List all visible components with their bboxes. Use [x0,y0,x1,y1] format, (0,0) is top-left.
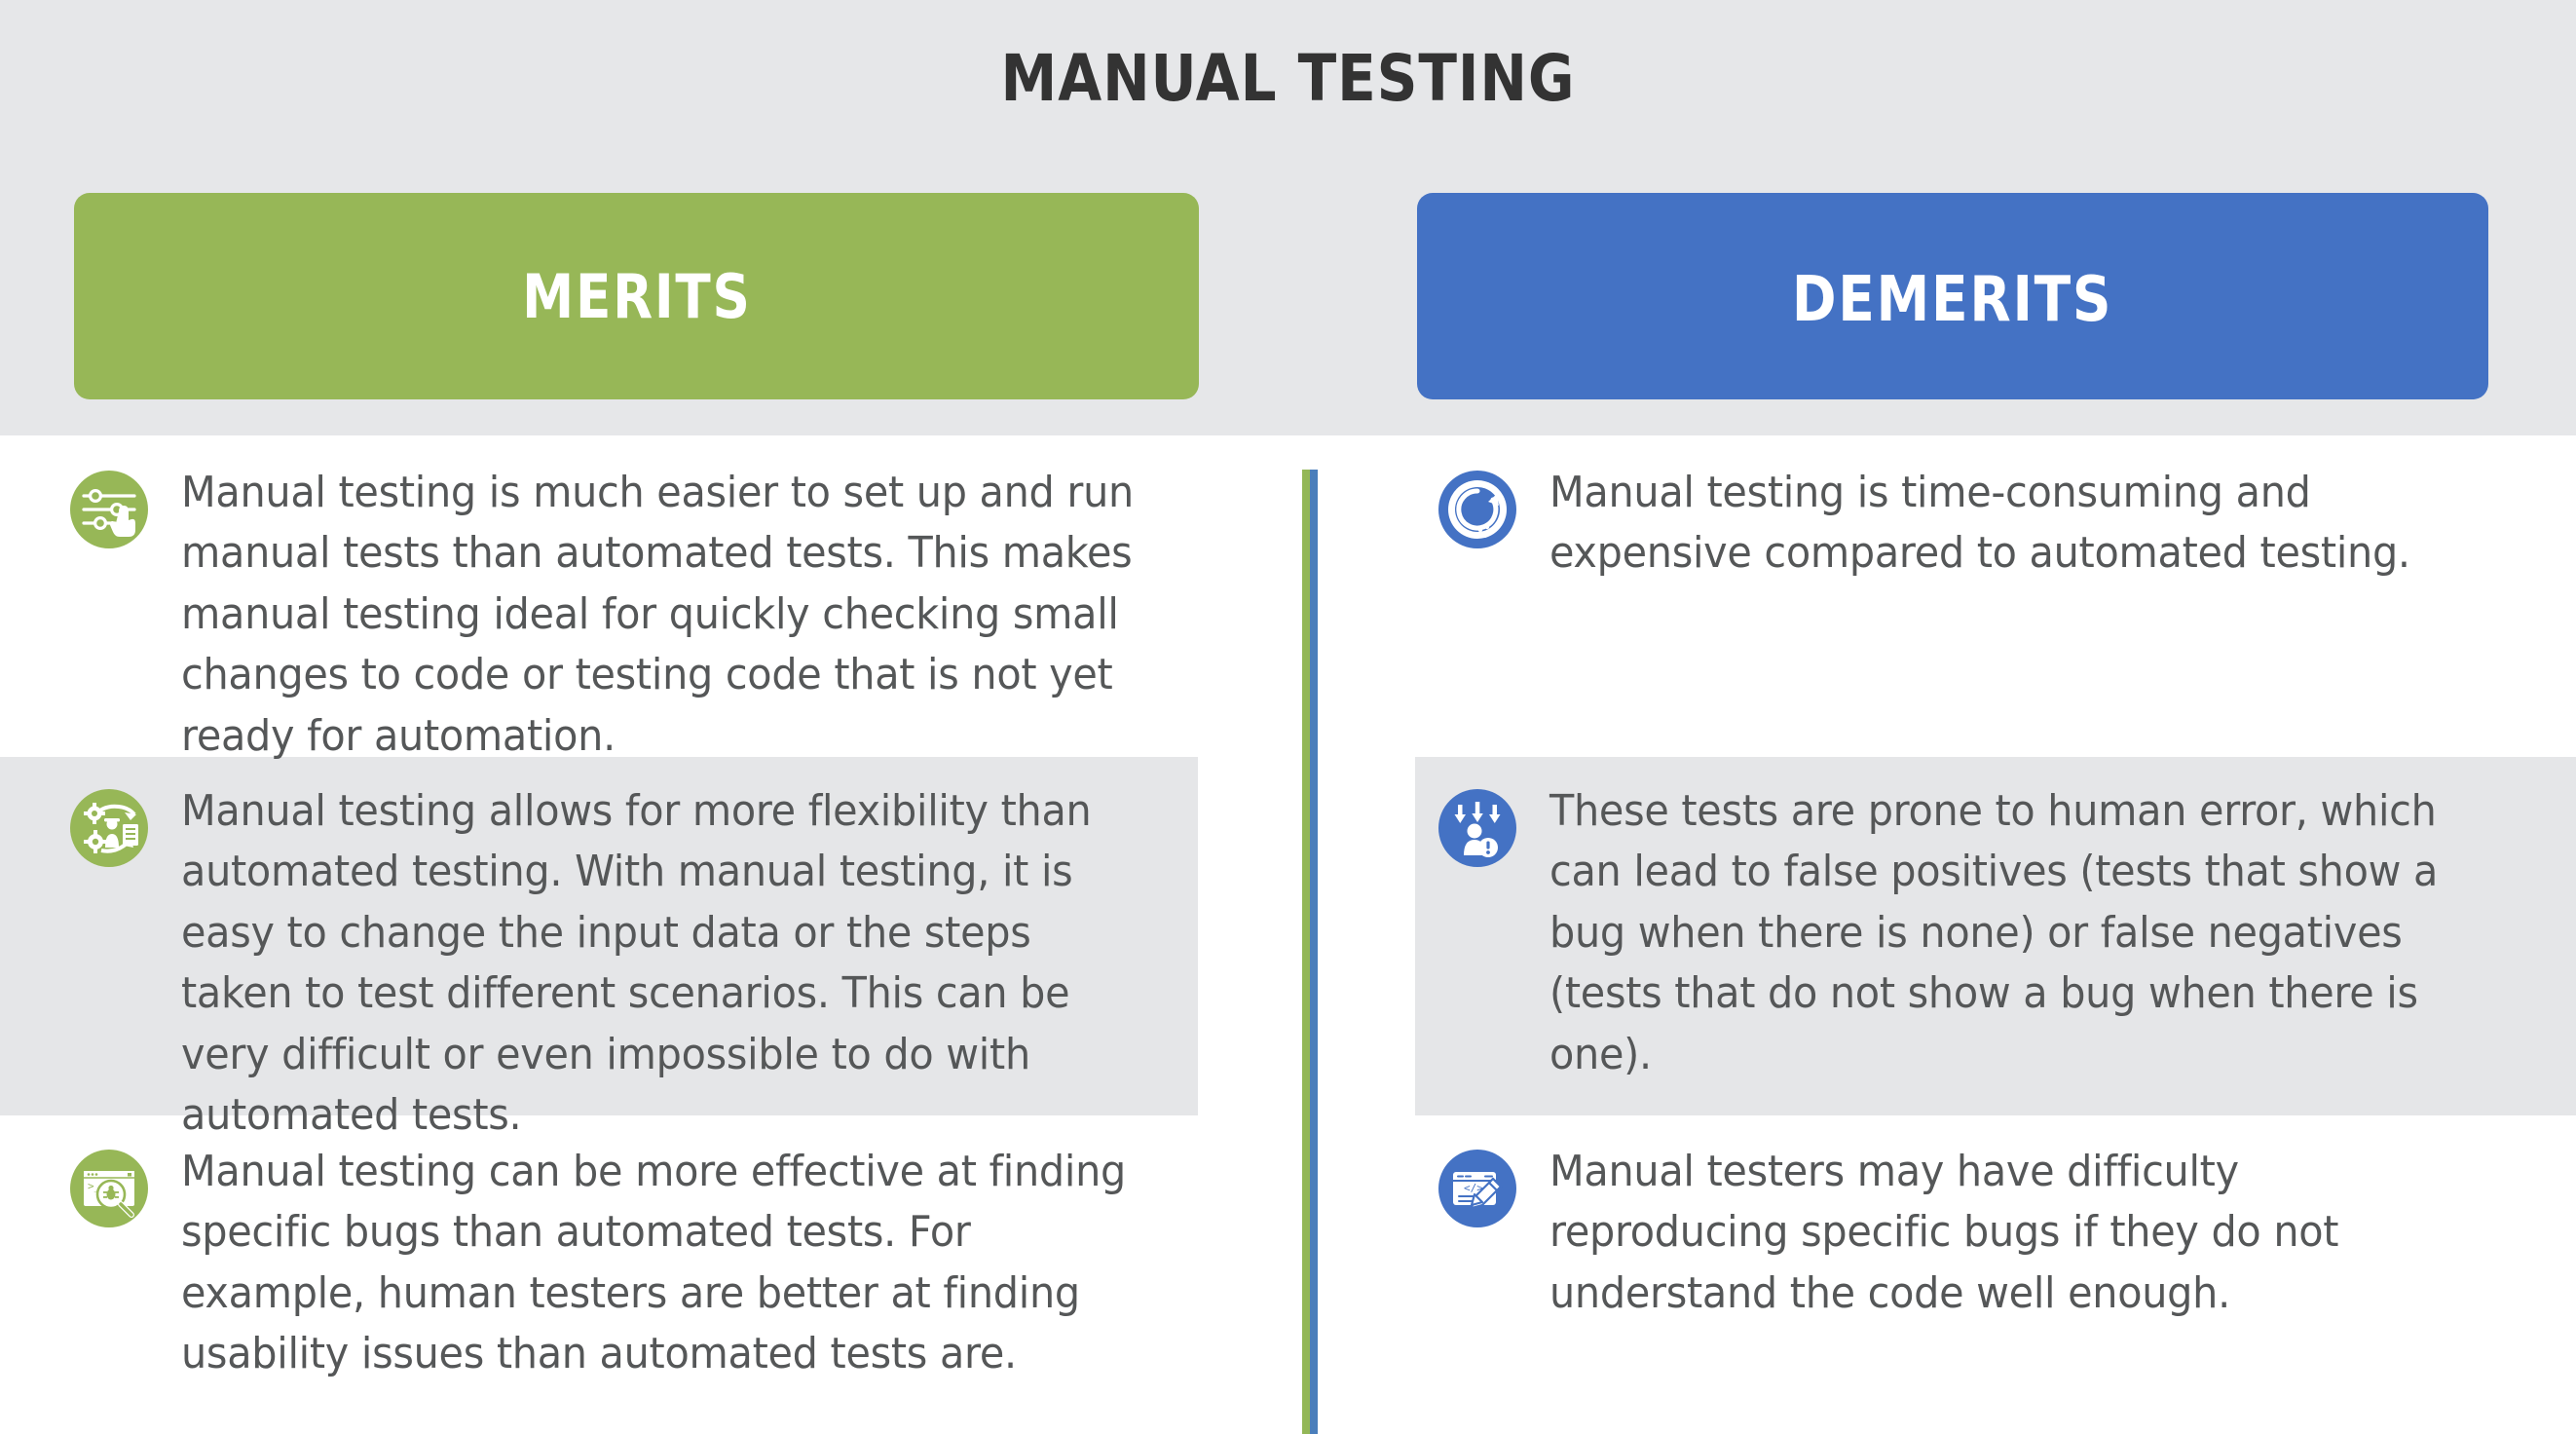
demerit-item-2-text: These tests are prone to human error, wh… [1549,781,2459,1085]
loading-spinner-time-icon [1437,469,1518,550]
demerit-item-3-text: Manual testers may have difficulty repro… [1549,1142,2459,1324]
code-window-pencil-icon: </> [1437,1148,1518,1229]
process-flexibility-icon [68,787,150,869]
merits-banner-label: MERITS [522,261,751,332]
column-divider [1302,470,1318,1434]
demerit-item-2: These tests are prone to human error, wh… [1437,781,2518,1085]
demerit-item-3: </> Manual testers may have difficulty r… [1437,1142,2518,1324]
merit-item-3: >_ Manual testing can be more effective … [68,1142,1208,1385]
demerits-banner-label: DEMERITS [1792,264,2112,336]
settings-sliders-touch-icon [68,469,150,550]
demerit-item-1: Manual testing is time-consuming and exp… [1437,463,2518,585]
merit-item-1: Manual testing is much easier to set up … [68,463,1208,767]
page-title: MANUAL TESTING [155,41,2422,116]
demerit-item-1-text: Manual testing is time-consuming and exp… [1549,463,2459,585]
human-error-warning-icon [1437,787,1518,869]
content-area: Manual testing is much easier to set up … [0,435,2576,1434]
demerits-banner: DEMERITS [1417,193,2488,399]
merit-item-3-text: Manual testing can be more effective at … [181,1142,1146,1385]
merit-item-1-text: Manual testing is much easier to set up … [181,463,1146,767]
divider-green-half [1302,470,1310,1434]
merit-item-2: Manual testing allows for more flexibili… [68,781,1208,1147]
bug-search-browser-icon: >_ [68,1148,150,1229]
merit-item-2-text: Manual testing allows for more flexibili… [181,781,1146,1147]
merits-banner: MERITS [74,193,1199,399]
divider-blue-half [1310,470,1318,1434]
